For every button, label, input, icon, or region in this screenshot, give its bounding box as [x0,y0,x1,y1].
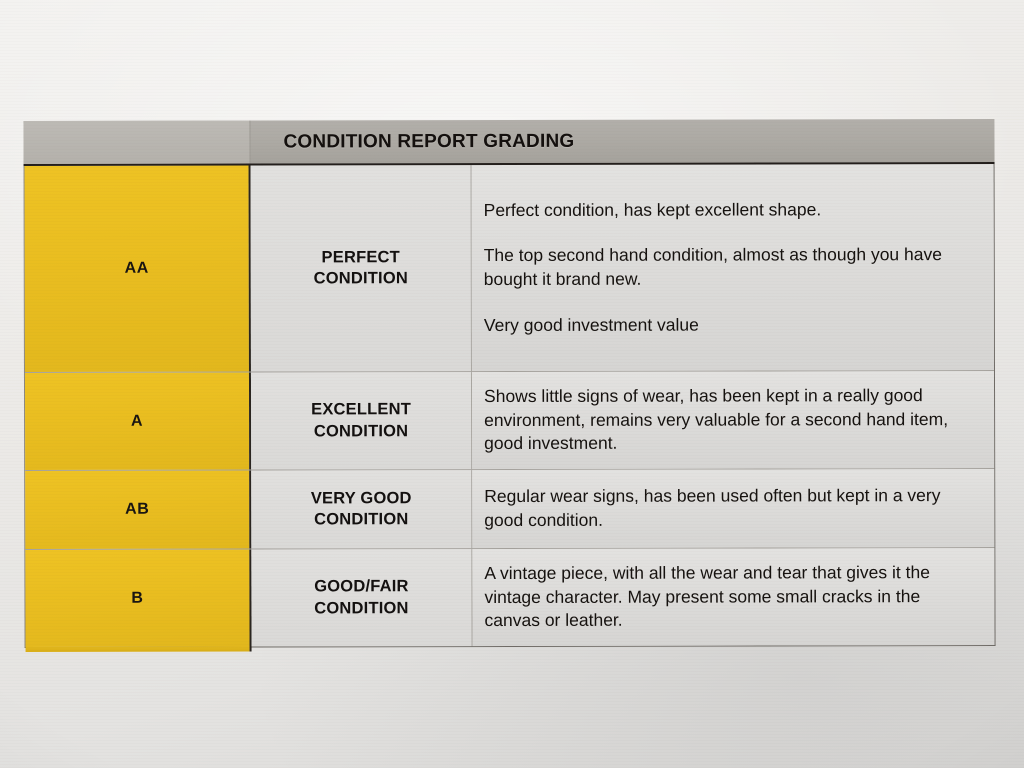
table-title: CONDITION REPORT GRADING [250,129,994,153]
condition-title-line: VERY GOOD [311,488,412,509]
table-header-left-block [23,121,250,164]
grade-column-overhang [26,647,252,652]
condition-grading-table: CONDITION REPORT GRADING AA PERFECT COND… [23,119,995,648]
condition-title-line: CONDITION [314,421,408,442]
condition-title-line: CONDITION [314,268,408,289]
grade-cell-ab: AB [25,471,251,549]
grade-cell-b: B [25,550,251,647]
description-paragraph: Regular wear signs, has been used often … [484,484,980,532]
description-cell-a: Shows little signs of wear, has been kep… [472,371,994,469]
table-row: B GOOD/FAIR CONDITION A vintage piece, w… [25,548,994,647]
description-paragraph: Very good investment value [484,313,980,338]
description-cell-aa: Perfect condition, has kept excellent sh… [472,164,994,371]
description-cell-ab: Regular wear signs, has been used often … [472,469,994,548]
condition-title-cell-ab: VERY GOOD CONDITION [251,470,472,548]
description-paragraph: A vintage piece, with all the wear and t… [484,561,980,633]
table-row: A EXCELLENT CONDITION Shows little signs… [25,371,994,471]
table-body: AA PERFECT CONDITION Perfect condition, … [24,164,996,648]
condition-title-line: GOOD/FAIR [314,577,408,598]
condition-title-line: EXCELLENT [311,400,411,421]
condition-title-line: CONDITION [314,598,408,619]
description-paragraph: Shows little signs of wear, has been kep… [484,384,980,456]
table-row: AB VERY GOOD CONDITION Regular wear sign… [25,469,994,550]
condition-title-cell-b: GOOD/FAIR CONDITION [251,549,472,646]
description-paragraph: The top second hand condition, almost as… [484,243,980,291]
condition-title-cell-aa: PERFECT CONDITION [251,165,472,371]
condition-title-cell-a: EXCELLENT CONDITION [251,372,472,469]
grade-cell-aa: AA [25,166,251,372]
grade-cell-a: A [25,373,251,470]
condition-title-line: PERFECT [322,247,400,268]
condition-title-line: CONDITION [314,509,408,530]
table-header-banner: CONDITION REPORT GRADING [23,119,994,166]
table-row: AA PERFECT CONDITION Perfect condition, … [25,164,994,373]
description-cell-b: A vintage piece, with all the wear and t… [472,548,994,646]
description-paragraph: Perfect condition, has kept excellent sh… [484,198,980,223]
